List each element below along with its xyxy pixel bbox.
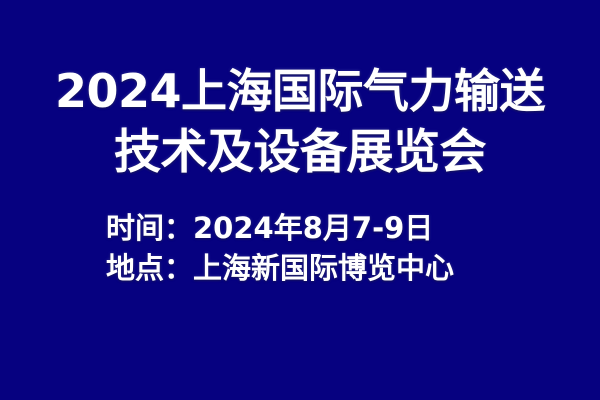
poster-title: 2024上海国际气力输送 技术及设备展览会 [0,60,600,184]
exhibition-poster-banner: 2024上海国际气力输送 技术及设备展览会 时间：2024年8月7-9日 地点：… [0,0,600,400]
event-date-line: 时间：2024年8月7-9日 [106,208,454,248]
poster-title-line-2: 技术及设备展览会 [0,122,600,184]
poster-title-line-1: 2024上海国际气力输送 [0,60,600,122]
poster-details: 时间：2024年8月7-9日 地点：上海新国际博览中心 [106,208,454,288]
event-venue-line: 地点：上海新国际博览中心 [106,248,454,288]
